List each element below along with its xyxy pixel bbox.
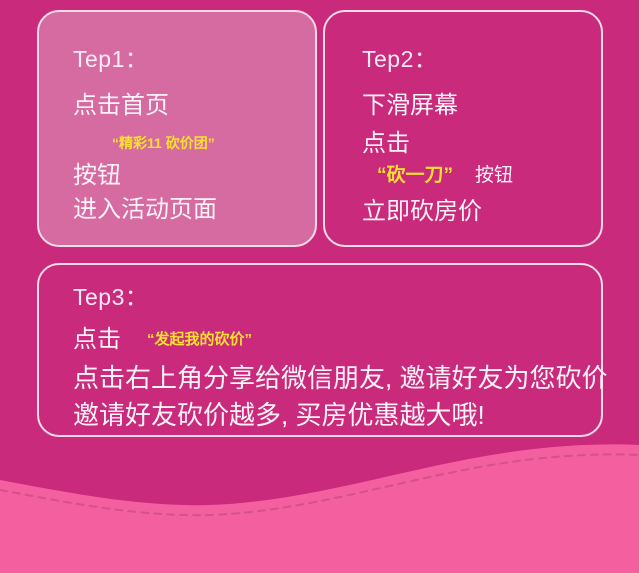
step-2-line-2: 点击 — [362, 132, 410, 156]
step-3-line-3: 邀请好友砍价越多, 买房优惠越大哦! — [73, 402, 485, 428]
step-1-line-3: 按钮 — [73, 164, 121, 188]
wave-fill-shape — [0, 444, 639, 573]
step-1-title: Tep1： — [73, 48, 148, 71]
bottom-wave-decoration — [0, 433, 639, 573]
step-3-line-1: 点击“发起我的砍价” — [73, 328, 252, 352]
promo-poster: Tep1： 点击首页 “精彩11 砍价团” 按钮 进入活动页面 Tep2： 下滑… — [0, 0, 639, 573]
wave-dashed-line — [0, 454, 639, 515]
step-2-line-4: 立即砍房价 — [362, 200, 482, 224]
step-3-highlight-label: “发起我的砍价” — [147, 331, 252, 348]
step-1-line-1: 点击首页 — [73, 94, 169, 118]
step-card-1-content: Tep1： 点击首页 “精彩11 砍价团” 按钮 进入活动页面 — [39, 12, 315, 245]
step-1-highlight-label: “精彩11 砍价团” — [112, 136, 215, 150]
step-card-3-content: Tep3： 点击“发起我的砍价” 点击右上角分享给微信朋友, 邀请好友为您砍价 … — [39, 265, 601, 435]
step-3-line-2: 点击右上角分享给微信朋友, 邀请好友为您砍价 — [73, 365, 607, 391]
step-2-highlight-label: “砍一刀” — [377, 165, 453, 186]
step-2-title: Tep2： — [362, 48, 437, 71]
step-2-line-1: 下滑屏幕 — [362, 94, 458, 118]
step-3-click-word: 点击 — [73, 326, 121, 353]
step-2-line-3: “砍一刀”按钮 — [377, 166, 513, 185]
step-3-title: Tep3： — [73, 286, 148, 309]
step-card-2: Tep2： 下滑屏幕 点击 “砍一刀”按钮 立即砍房价 — [323, 10, 603, 247]
step-card-3: Tep3： 点击“发起我的砍价” 点击右上角分享给微信朋友, 邀请好友为您砍价 … — [37, 263, 603, 437]
step-2-button-word: 按钮 — [475, 165, 513, 186]
step-card-2-content: Tep2： 下滑屏幕 点击 “砍一刀”按钮 立即砍房价 — [325, 12, 601, 245]
step-1-line-4: 进入活动页面 — [73, 198, 217, 222]
step-card-1: Tep1： 点击首页 “精彩11 砍价团” 按钮 进入活动页面 — [37, 10, 317, 247]
